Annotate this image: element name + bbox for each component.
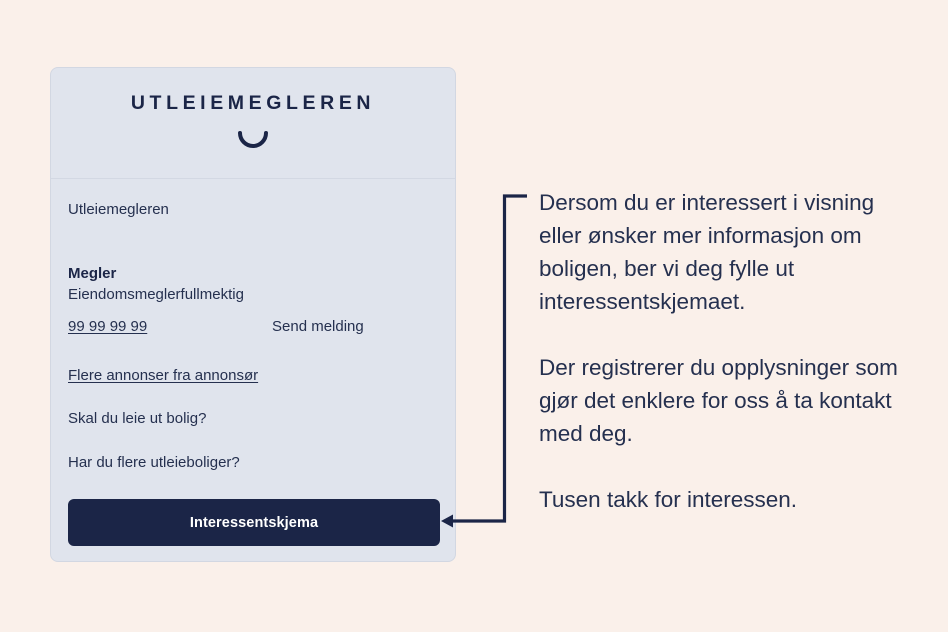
smile-arc-icon	[51, 131, 455, 153]
send-message-link[interactable]: Send melding	[272, 318, 364, 335]
phone-number-link[interactable]: 99 99 99 99	[68, 318, 272, 335]
interest-form-button[interactable]: Interessentskjema	[68, 499, 440, 546]
more-ads-from-advertiser-link[interactable]: Flere annonser fra annonsør	[68, 367, 258, 384]
annotation-text-block: Dersom du er interessert i visning eller…	[539, 186, 919, 516]
annotation-paragraph-1: Dersom du er interessert i visning eller…	[539, 186, 919, 318]
rent-out-home-link[interactable]: Skal du leie ut bolig?	[68, 410, 438, 428]
annotation-paragraph-2: Der registrerer du opplysninger som gjør…	[539, 351, 919, 450]
multiple-rentals-link[interactable]: Har du flere utleieboliger?	[68, 454, 438, 472]
agent-role-title: Megler	[68, 265, 438, 282]
utleiemegleren-logo-wordmark: UTLEIEMEGLEREN	[51, 92, 455, 115]
contact-row: 99 99 99 99 Send melding	[68, 318, 438, 335]
card-logo-header: UTLEIEMEGLEREN	[51, 68, 455, 179]
card-body: Utleiemegleren Megler Eiendomsmeglerfull…	[51, 179, 455, 472]
broker-card: UTLEIEMEGLEREN Utleiemegleren Megler Eie…	[50, 67, 456, 562]
agency-name: Utleiemegleren	[68, 201, 438, 219]
agent-job-title: Eiendomsmeglerfullmektig	[68, 286, 438, 304]
annotation-paragraph-3: Tusen takk for interessen.	[539, 483, 919, 516]
